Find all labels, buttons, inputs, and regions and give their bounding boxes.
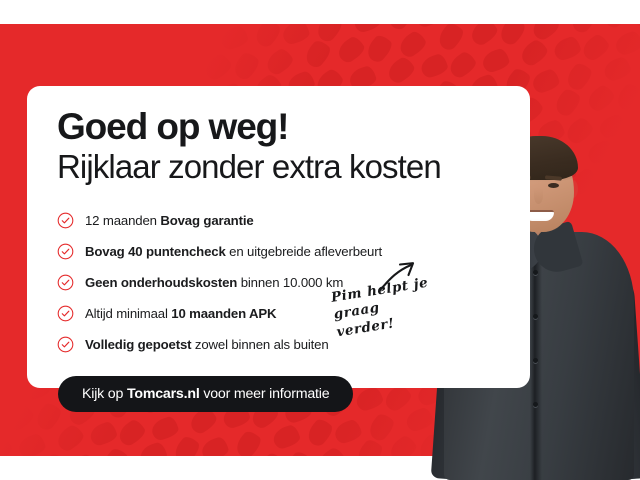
cta-button[interactable]: Kijk op Tomcars.nl voor meer informatie bbox=[58, 376, 353, 412]
check-circle-icon bbox=[57, 274, 74, 291]
list-item: 12 maanden Bovag garantie bbox=[57, 205, 497, 235]
check-circle-icon bbox=[57, 243, 74, 260]
check-circle-icon bbox=[57, 336, 74, 353]
list-item-label: Volledig gepoetst zowel binnen als buite… bbox=[85, 337, 329, 352]
list-item-label: 12 maanden Bovag garantie bbox=[85, 213, 254, 228]
list-item-label: Altijd minimaal 10 maanden APK bbox=[85, 306, 276, 321]
headline-secondary: Rijklaar zonder extra kosten bbox=[57, 148, 441, 186]
promo-banner: Goed op weg! Rijklaar zonder extra koste… bbox=[0, 0, 640, 480]
curved-arrow-up-right-icon bbox=[378, 258, 420, 294]
check-circle-icon bbox=[57, 305, 74, 322]
shirt-button bbox=[533, 402, 538, 407]
feature-list: 12 maanden Bovag garantie Bovag 40 punte… bbox=[57, 205, 497, 360]
check-circle-icon bbox=[57, 212, 74, 229]
list-item: Altijd minimaal 10 maanden APK bbox=[57, 298, 497, 328]
eye-right bbox=[548, 183, 559, 188]
shirt-button bbox=[533, 358, 538, 363]
list-item-label: Geen onderhoudskosten binnen 10.000 km bbox=[85, 275, 343, 290]
list-item: Geen onderhoudskosten binnen 10.000 km bbox=[57, 267, 497, 297]
list-item-label: Bovag 40 puntencheck en uitgebreide afle… bbox=[85, 244, 382, 259]
nose bbox=[534, 188, 543, 204]
list-item: Bovag 40 puntencheck en uitgebreide afle… bbox=[57, 236, 497, 266]
content-card: Goed op weg! Rijklaar zonder extra koste… bbox=[27, 86, 530, 388]
shirt-button bbox=[533, 270, 538, 275]
shirt-button bbox=[533, 314, 538, 319]
shirt-placket bbox=[530, 246, 542, 480]
headline-primary: Goed op weg! bbox=[57, 106, 288, 148]
list-item: Volledig gepoetst zowel binnen als buite… bbox=[57, 329, 497, 359]
cta-button-label: Kijk op Tomcars.nl voor meer informatie bbox=[82, 386, 329, 402]
